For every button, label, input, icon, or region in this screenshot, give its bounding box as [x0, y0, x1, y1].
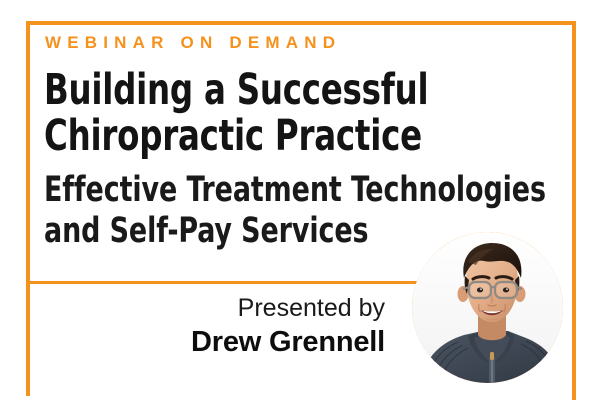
page-title-line-2: Chiropractic Practice	[44, 114, 481, 160]
presenter-name: Drew Grennell	[191, 328, 385, 357]
page-title: Building a Successful Chiropractic Pract…	[44, 68, 481, 159]
eyebrow-label: WEBINAR ON DEMAND	[45, 34, 341, 51]
presenter-avatar	[412, 232, 563, 383]
page-title-line-1: Building a Successful	[44, 65, 428, 115]
page-subtitle-line-1: Effective Treatment Technologies	[44, 170, 546, 210]
horizontal-divider	[30, 281, 422, 284]
presented-by-label: Presented by	[238, 296, 385, 321]
frame-border-left	[26, 21, 30, 396]
frame-border-top	[26, 21, 576, 25]
webinar-promo-banner: WEBINAR ON DEMAND Building a Successful …	[0, 0, 600, 400]
presenter-avatar-image	[412, 232, 563, 383]
